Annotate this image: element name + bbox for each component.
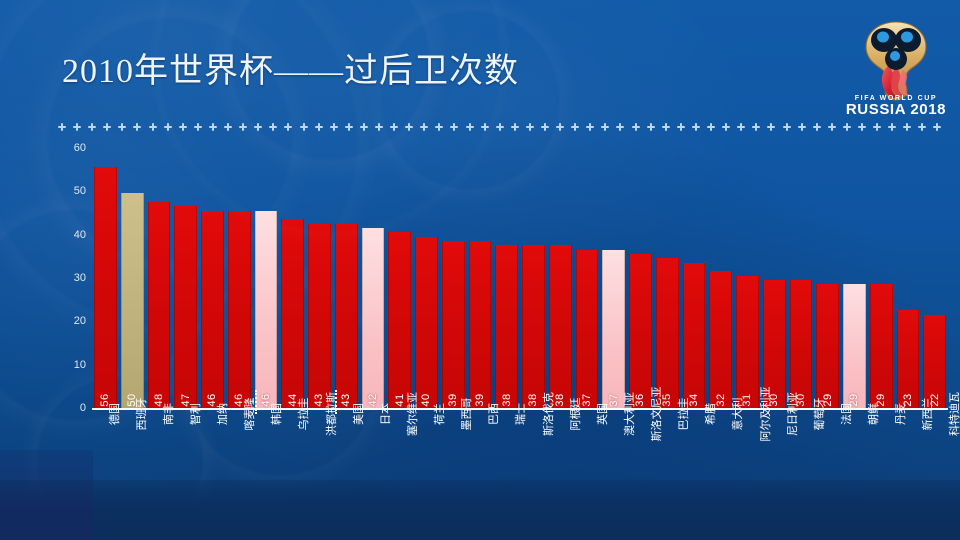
x-label-slot: 西班牙 <box>119 412 146 522</box>
divider-star-icon <box>405 123 413 131</box>
divider-star-icon <box>903 123 911 131</box>
divider-star-icon <box>149 123 157 131</box>
divider-star-icon <box>933 123 941 131</box>
bar[interactable]: 32 <box>709 271 732 410</box>
divider-star-icon <box>843 123 851 131</box>
divider-star-icon <box>541 123 549 131</box>
bar[interactable]: 29 <box>870 284 893 410</box>
divider-star-icon <box>632 123 640 131</box>
bar-slot[interactable]: 29 <box>814 148 841 410</box>
x-label-slot: 澳大利亚 <box>607 412 634 522</box>
bar[interactable]: 42 <box>362 228 385 410</box>
divider-star-icon <box>103 123 111 131</box>
divider-star-icon <box>692 123 700 131</box>
divider-star-icon <box>164 123 172 131</box>
divider-star-icon <box>88 123 96 131</box>
x-label-slot: 墨西哥 <box>445 412 472 522</box>
bar-slot[interactable]: 39 <box>467 148 494 410</box>
divider-star-icon <box>783 123 791 131</box>
x-label-slot: 意大利 <box>716 412 743 522</box>
logo-lobe-highlight <box>890 51 900 61</box>
divider-star-icon <box>390 123 398 131</box>
divider-star-icon <box>496 123 504 131</box>
bar[interactable]: 56 <box>94 167 117 410</box>
y-axis-tick-label: 10 <box>74 359 86 371</box>
divider-star-icon <box>330 123 338 131</box>
divider-star-icon <box>300 123 308 131</box>
bar[interactable]: 40 <box>415 237 438 410</box>
divider-star-icon <box>254 123 262 131</box>
divider-star-icon <box>73 123 81 131</box>
divider-star-icon <box>858 123 866 131</box>
bar-slot[interactable]: 38 <box>547 148 574 410</box>
x-label-slot: 丹麦 <box>879 412 906 522</box>
bar-slot[interactable]: 36 <box>627 148 654 410</box>
x-label-slot: 喀麦隆 <box>228 412 255 522</box>
bar[interactable]: 41 <box>388 232 411 410</box>
bar-slot[interactable]: 44 <box>279 148 306 410</box>
x-label-slot: 新西兰 <box>906 412 933 522</box>
x-label-slot: 英国 <box>580 412 607 522</box>
bar-slot[interactable]: 47 <box>172 148 199 410</box>
divider-star-icon <box>511 123 519 131</box>
bar[interactable]: 50 <box>121 193 144 410</box>
divider-star-icon <box>798 123 806 131</box>
divider-star-icon <box>586 123 594 131</box>
x-label-slot: 南非 <box>146 412 173 522</box>
bar[interactable]: 37 <box>602 250 625 410</box>
divider-star-icon <box>269 123 277 131</box>
bar-slot[interactable]: 39 <box>440 148 467 410</box>
divider-star-icon <box>616 123 624 131</box>
bottom-left-block <box>0 450 93 540</box>
bar[interactable]: 38 <box>522 245 545 410</box>
bar[interactable]: 44 <box>281 219 304 410</box>
x-label-slot: 美国 <box>336 412 363 522</box>
bar-slot[interactable]: 34 <box>681 148 708 410</box>
y-axis-tick-label: 0 <box>80 402 86 414</box>
bar-value-label: 38 <box>501 393 513 406</box>
divider-star-icon <box>722 123 730 131</box>
divider-star-icon <box>752 123 760 131</box>
slide-canvas: 2010年世界杯——过后卫次数 <box>0 0 960 540</box>
divider-star-icon <box>118 123 126 131</box>
bar-slot[interactable]: 46 <box>226 148 253 410</box>
bar[interactable]: 47 <box>174 206 197 410</box>
divider-star-icon <box>662 123 670 131</box>
fifa-world-cup-logo: FIFA WORLD CUP RUSSIA 2018 <box>842 6 950 118</box>
bar-slot[interactable]: 32 <box>707 148 734 410</box>
bar-slot[interactable]: 42 <box>360 148 387 410</box>
x-label-slot: 葡萄牙 <box>797 412 824 522</box>
divider-star-icon <box>450 123 458 131</box>
divider-star-icon <box>918 123 926 131</box>
bar[interactable]: 43 <box>335 224 358 410</box>
divider-star-icon <box>737 123 745 131</box>
x-label-slot: 巴拉圭 <box>662 412 689 522</box>
bar[interactable]: 46 <box>228 211 251 410</box>
x-label-slot: 阿根廷 <box>553 412 580 522</box>
bar[interactable]: 38 <box>549 245 572 410</box>
bar-slot[interactable]: 41 <box>386 148 413 410</box>
bar-slot[interactable]: 35 <box>654 148 681 410</box>
bar-slot[interactable]: 38 <box>493 148 520 410</box>
divider-star-icon <box>209 123 217 131</box>
divider-star-icon <box>526 123 534 131</box>
bar[interactable]: 30 <box>790 280 813 410</box>
bar-slot[interactable]: 30 <box>788 148 815 410</box>
divider-star-icon <box>481 123 489 131</box>
bar[interactable]: 31 <box>736 276 759 410</box>
bar-slot[interactable]: 31 <box>734 148 761 410</box>
x-label-slot: 德国 <box>92 412 119 522</box>
star-divider <box>58 120 942 134</box>
divider-star-icon <box>194 123 202 131</box>
divider-star-icon <box>888 123 896 131</box>
bar-slot[interactable]: 40 <box>413 148 440 410</box>
bar-slot[interactable]: 37 <box>600 148 627 410</box>
y-axis-tick-label: 20 <box>74 315 86 327</box>
divider-star-icon <box>315 123 323 131</box>
divider-star-icon <box>239 123 247 131</box>
divider-star-icon <box>556 123 564 131</box>
x-label-slot: 斯洛文尼亚 <box>635 412 662 522</box>
bar-slot[interactable]: 29 <box>868 148 895 410</box>
divider-star-icon <box>466 123 474 131</box>
x-label-slot: 法国 <box>824 412 851 522</box>
bar[interactable]: 23 <box>897 310 920 410</box>
divider-star-icon <box>435 123 443 131</box>
x-label-slot: 乌拉圭 <box>282 412 309 522</box>
x-label-slot: 洪都拉斯 <box>309 412 336 522</box>
divider-star-icon <box>420 123 428 131</box>
bar[interactable]: 39 <box>469 241 492 410</box>
bar[interactable]: 38 <box>495 245 518 410</box>
x-label-slot: 韩国 <box>255 412 282 522</box>
x-label-slot: 斯洛伐克 <box>526 412 553 522</box>
bar-slot[interactable]: 46 <box>253 148 280 410</box>
divider-star-icon <box>375 123 383 131</box>
x-label-slot: 阿尔及利亚 <box>743 412 770 522</box>
divider-star-icon <box>767 123 775 131</box>
bar-slot[interactable]: 43 <box>333 148 360 410</box>
bar-slot[interactable]: 30 <box>761 148 788 410</box>
x-label-slot: 智利 <box>173 412 200 522</box>
x-label-slot: 日本 <box>363 412 390 522</box>
y-axis: 0102030405060 <box>58 148 92 410</box>
divider-star-icon <box>224 123 232 131</box>
bar-slot[interactable]: 50 <box>119 148 146 410</box>
y-axis-tick-label: 30 <box>74 272 86 284</box>
bar[interactable]: 22 <box>923 315 946 410</box>
bar-slot[interactable]: 56 <box>92 148 119 410</box>
bar[interactable]: 46 <box>201 211 224 410</box>
page-title: 2010年世界杯——过后卫次数 <box>62 43 519 92</box>
logo-lobe-highlight <box>877 32 889 43</box>
plot-area: 5650484746464644434342414039393838383737… <box>92 148 948 410</box>
divider-star-icon <box>601 123 609 131</box>
x-axis-tick-label: 科特迪瓦 <box>946 392 960 436</box>
divider-star-icon <box>345 123 353 131</box>
divider-star-icon <box>873 123 881 131</box>
x-label-slot: 科特迪瓦 <box>933 412 960 522</box>
divider-star-icon <box>677 123 685 131</box>
x-label-slot: 朝鲜 <box>852 412 879 522</box>
bar[interactable]: 34 <box>683 263 706 410</box>
bar-chart: 0102030405060 56504847464646444343424140… <box>58 148 948 410</box>
bar[interactable]: 37 <box>576 250 599 410</box>
bar-slot[interactable]: 43 <box>306 148 333 410</box>
bar[interactable]: 39 <box>442 241 465 410</box>
bar-slot[interactable]: 37 <box>574 148 601 410</box>
x-label-slot: 加纳 <box>201 412 228 522</box>
divider-star-icon <box>179 123 187 131</box>
bar-slot[interactable]: 22 <box>921 148 948 410</box>
x-label-slot: 瑞士 <box>499 412 526 522</box>
divider-star-icon <box>828 123 836 131</box>
logo-line-2: RUSSIA 2018 <box>842 102 950 118</box>
logo-lobe-highlight <box>901 32 913 43</box>
divider-star-icon <box>707 123 715 131</box>
x-label-slot: 希腊 <box>689 412 716 522</box>
bar-slot[interactable]: 29 <box>841 148 868 410</box>
y-axis-tick-label: 60 <box>74 142 86 154</box>
divider-star-icon <box>360 123 368 131</box>
y-axis-tick-label: 50 <box>74 185 86 197</box>
divider-star-icon <box>133 123 141 131</box>
bar[interactable]: 48 <box>148 202 171 410</box>
x-label-slot: 巴西 <box>472 412 499 522</box>
divider-star-icon <box>58 123 66 131</box>
divider-star-icon <box>813 123 821 131</box>
x-label-slot: 塞尔维亚 <box>390 412 417 522</box>
bar-value-label: 38 <box>527 393 539 406</box>
bar[interactable]: 29 <box>816 284 839 410</box>
divider-star-icon <box>571 123 579 131</box>
bar-slot[interactable]: 48 <box>146 148 173 410</box>
divider-star-icon <box>284 123 292 131</box>
y-axis-tick-label: 40 <box>74 229 86 241</box>
bar-slot[interactable]: 38 <box>520 148 547 410</box>
bar[interactable]: 29 <box>843 284 866 410</box>
x-label-slot: 荷兰 <box>418 412 445 522</box>
bar-slot[interactable]: 46 <box>199 148 226 410</box>
bar-slot[interactable]: 23 <box>895 148 922 410</box>
divider-star-icon <box>647 123 655 131</box>
x-axis-labels: 德国西班牙南非智利加纳喀麦隆韩国乌拉圭洪都拉斯美国日本塞尔维亚荷兰墨西哥巴西瑞士… <box>92 412 960 522</box>
bar[interactable]: 43 <box>308 224 331 410</box>
bar[interactable]: 46 <box>255 211 278 410</box>
x-label-slot: 尼日利亚 <box>770 412 797 522</box>
